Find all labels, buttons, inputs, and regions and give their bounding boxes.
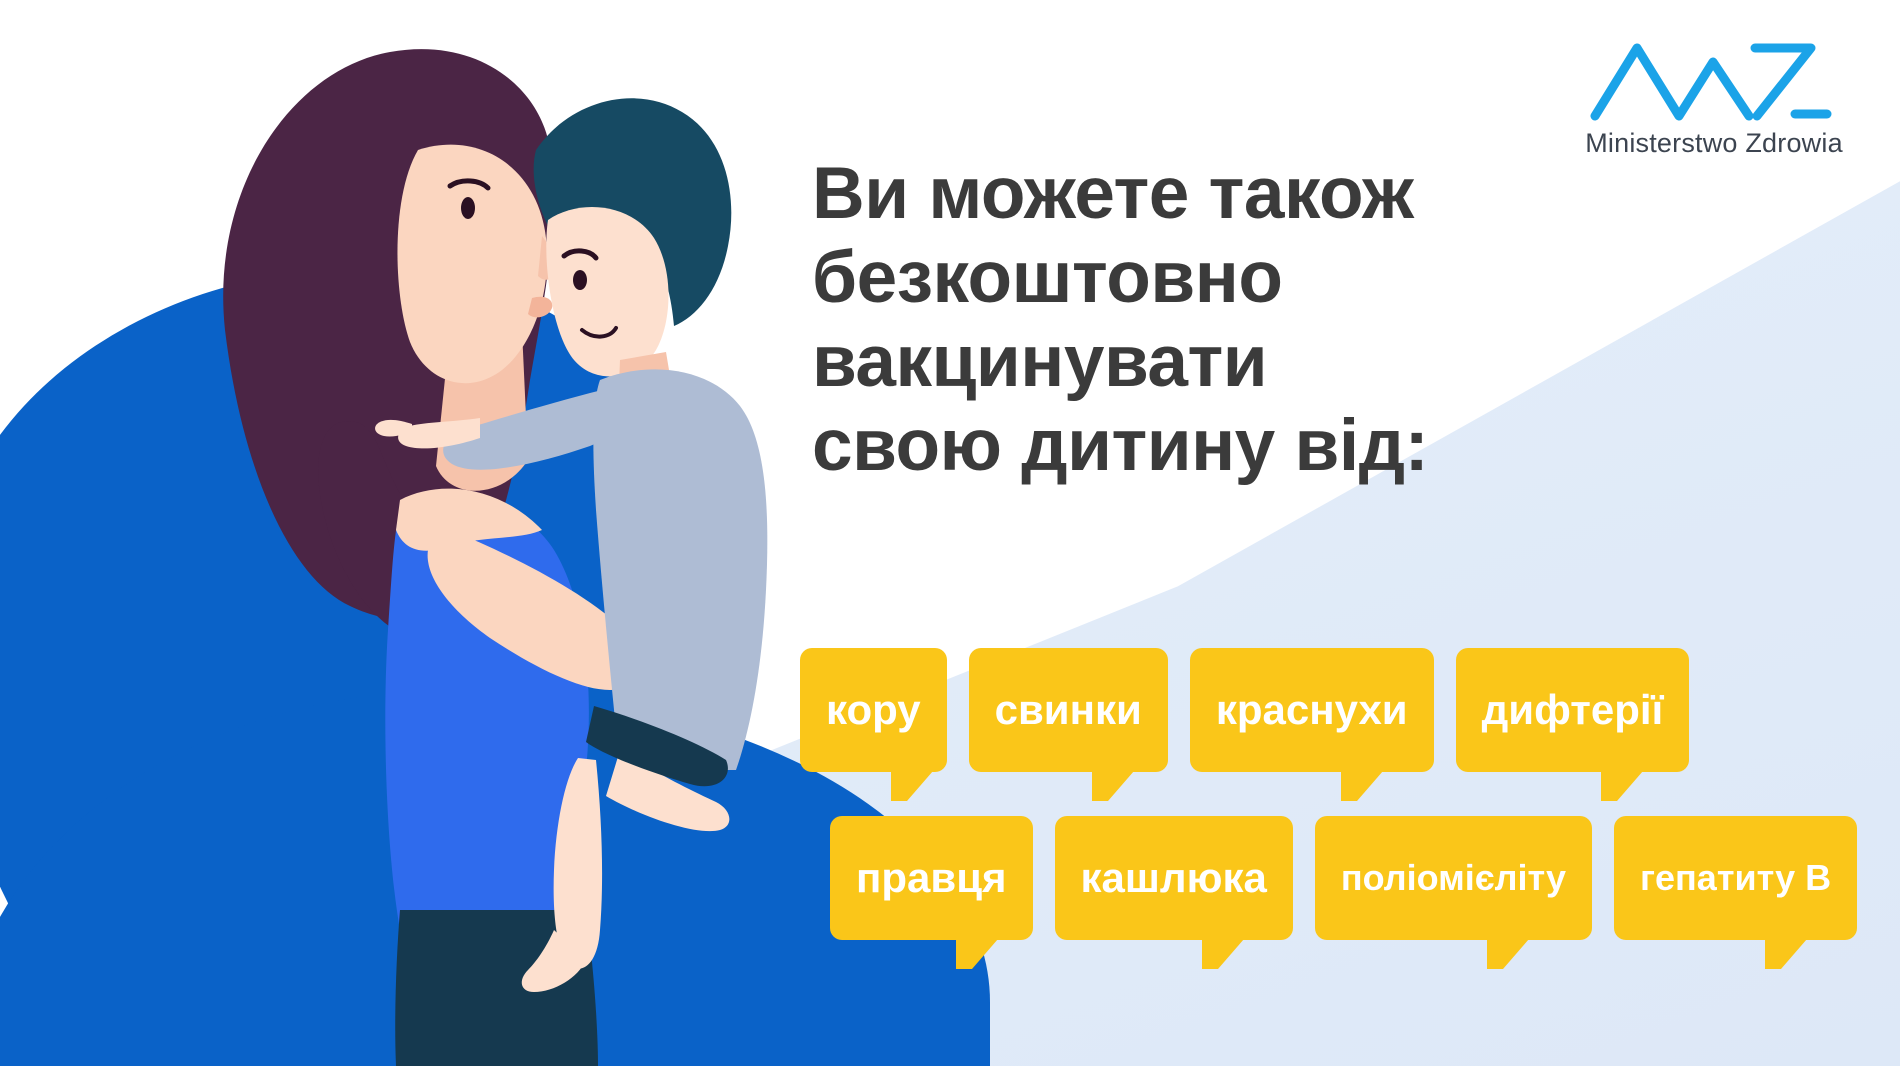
bubble-label: правця <box>856 857 1007 899</box>
bubble-item: свинки <box>969 648 1168 772</box>
mother-and-child-illustration <box>150 30 770 1066</box>
bubble-label: кашлюка <box>1081 857 1267 899</box>
bubble-item: кору <box>800 648 947 772</box>
disease-bubbles: кору свинки краснухи дифтерії правця каш… <box>800 648 1880 984</box>
bubble-item: краснухи <box>1190 648 1434 772</box>
bubble-label: краснухи <box>1216 689 1408 731</box>
headline-line-3: вакцинувати <box>812 320 1632 404</box>
bubble-item: дифтерії <box>1456 648 1690 772</box>
bubble-label: дифтерії <box>1482 689 1664 731</box>
child-shirt <box>593 369 767 770</box>
bubble-label: поліомієліту <box>1341 860 1566 896</box>
mother-eye <box>461 197 475 219</box>
mother-lips <box>528 297 552 318</box>
bubble-item: гепатиту В <box>1614 816 1857 940</box>
bubble-row-2: правця кашлюка поліомієліту гепатиту В <box>830 816 1880 940</box>
headline-line-4: свою дитину від: <box>812 404 1632 488</box>
ministry-logo: Ministerstwo Zdrowia <box>1564 34 1864 159</box>
headline-line-1: Ви можете також <box>812 152 1632 236</box>
bubble-label: гепатиту В <box>1640 860 1831 896</box>
headline: Ви можете також безкоштовно вакцинувати … <box>812 152 1632 488</box>
child-eye <box>573 270 587 290</box>
poster-canvas: Ministerstwo Zdrowia Ви можете також без… <box>0 0 1900 1066</box>
bubble-label: кору <box>826 689 921 731</box>
headline-line-2: безкоштовно <box>812 236 1632 320</box>
bubble-item: правця <box>830 816 1033 940</box>
bubble-item: поліомієліту <box>1315 816 1592 940</box>
bubble-row-1: кору свинки краснухи дифтерії <box>800 648 1880 772</box>
mz-zigzag-logo-icon <box>1589 34 1839 126</box>
bubble-label: свинки <box>995 689 1142 731</box>
bubble-item: кашлюка <box>1055 816 1293 940</box>
